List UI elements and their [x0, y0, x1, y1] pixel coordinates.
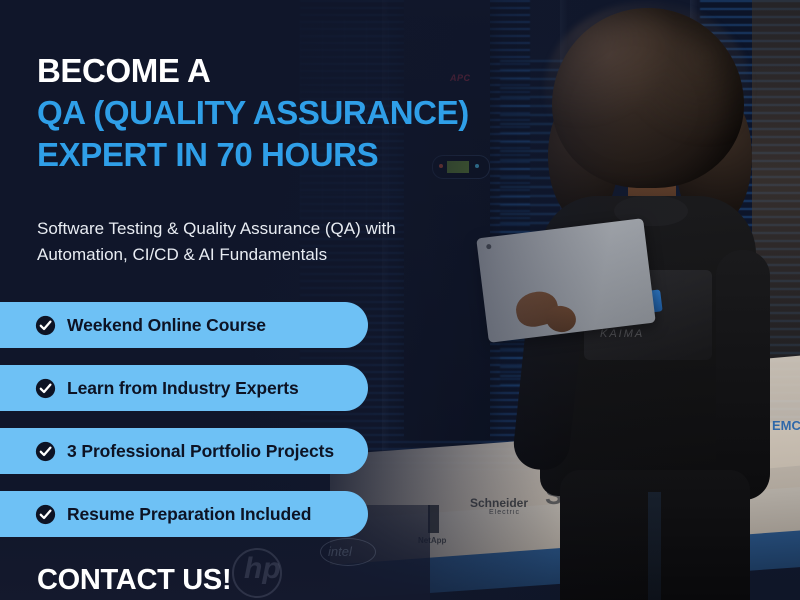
feature-pill-2[interactable]: Learn from Industry Experts — [0, 365, 368, 411]
feature-pill-3[interactable]: 3 Professional Portfolio Projects — [0, 428, 368, 474]
contact-us-cta[interactable]: CONTACT US! — [37, 564, 231, 597]
check-circle-icon — [35, 378, 56, 399]
feature-pill-2-label: Learn from Industry Experts — [67, 378, 333, 399]
headline-block: BECOME A QA (QUALITY ASSURANCE) EXPERT I… — [37, 50, 557, 176]
headline-line-1: BECOME A — [37, 50, 557, 92]
check-circle-icon — [35, 441, 56, 462]
headline-line-2: QA (QUALITY ASSURANCE) — [37, 92, 557, 134]
headline-line-3: EXPERT IN 70 HOURS — [37, 134, 557, 176]
subheadline: Software Testing & Quality Assurance (QA… — [37, 216, 467, 268]
feature-list: Weekend Online Course Learn from Industr… — [0, 302, 368, 537]
feature-pill-1-label: Weekend Online Course — [67, 315, 300, 336]
feature-pill-1[interactable]: Weekend Online Course — [0, 302, 368, 348]
promotional-banner: APC NetApp Schneider Electric S DELL EMC… — [0, 0, 800, 600]
feature-pill-4[interactable]: Resume Preparation Included — [0, 491, 368, 537]
check-circle-icon — [35, 315, 56, 336]
feature-pill-4-label: Resume Preparation Included — [67, 504, 345, 525]
banner-content: BECOME A QA (QUALITY ASSURANCE) EXPERT I… — [0, 0, 800, 600]
check-circle-icon — [35, 504, 56, 525]
feature-pill-3-label: 3 Professional Portfolio Projects — [67, 441, 368, 462]
